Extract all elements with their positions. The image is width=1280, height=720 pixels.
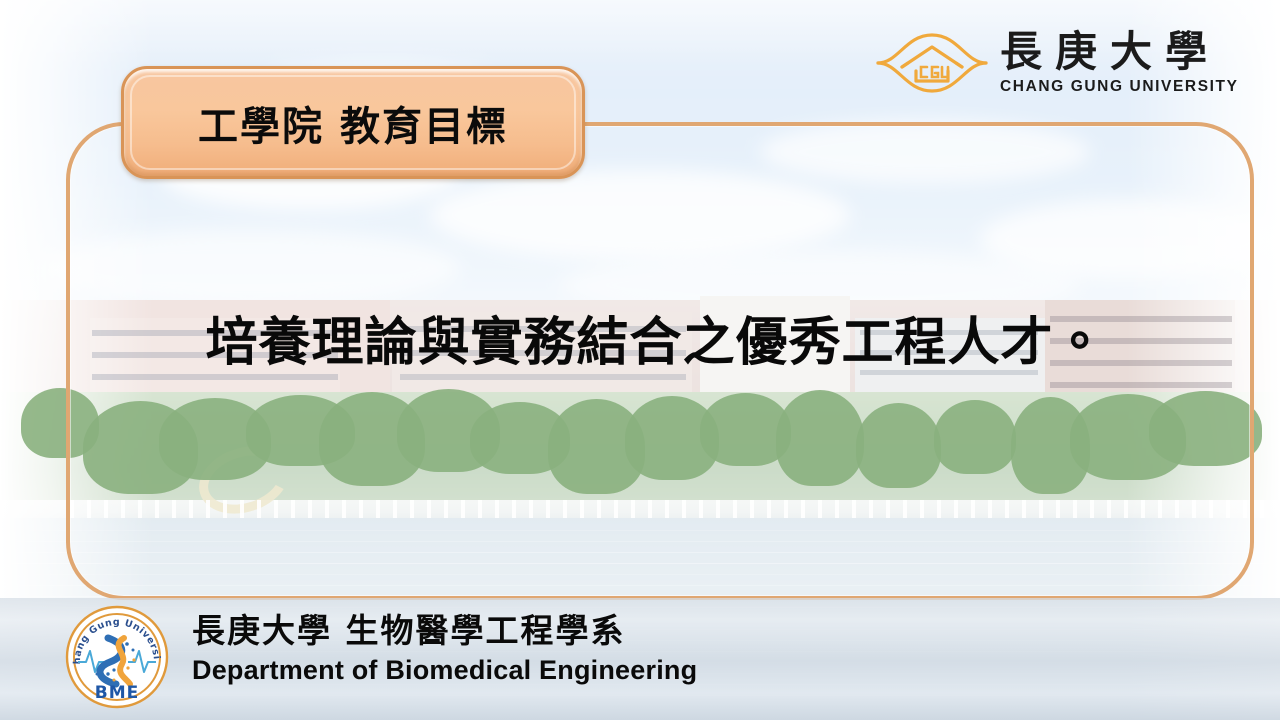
department-name-english: Department of Biomedical Engineering (192, 654, 697, 686)
cgu-logo-wordmark: 長庚大學 CHANG GUNG UNIVERSITY (1000, 31, 1239, 95)
education-goal-statement: 培養理論與實務結合之優秀工程人才。 (66, 300, 1246, 375)
department-name-chinese: 長庚大學 生物醫學工程學系 (192, 612, 697, 650)
title-badge: 工學院 教育目標 (121, 66, 585, 179)
cgu-english-name: CHANG GUNG UNIVERSITY (1000, 79, 1239, 95)
fence-picket (1260, 500, 1264, 518)
svg-text:BME: BME (95, 683, 140, 703)
slide: 培養理論與實務結合之優秀工程人才。 工學院 教育目標 長庚大學 CHANG GU… (0, 0, 1280, 720)
title-badge-label: 工學院 教育目標 (198, 94, 508, 152)
cgu-chinese-name: 長庚大學 (1000, 31, 1239, 73)
cgu-lens-mark-icon (872, 27, 992, 99)
cgu-university-logo: 長庚大學 CHANG GUNG UNIVERSITY (872, 22, 1268, 104)
footer-text-block: 長庚大學 生物醫學工程學系 Department of Biomedical E… (192, 612, 697, 686)
bme-department-logo-icon: Chang Gung University BME (64, 604, 170, 710)
